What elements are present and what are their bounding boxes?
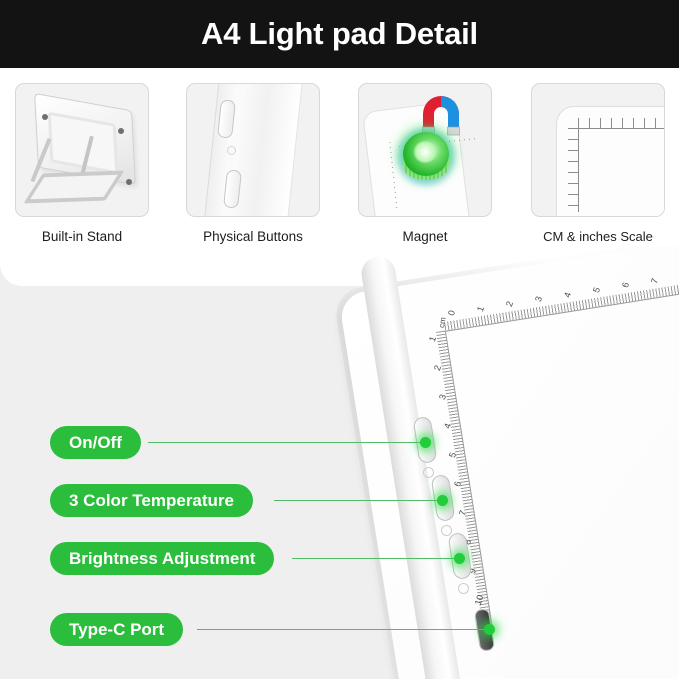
header-banner: A4 Light pad Detail bbox=[0, 0, 679, 68]
feature-panel-cm-inches-scale[interactable]: CM & inches Scale bbox=[531, 83, 665, 244]
magnet-thumbnail bbox=[358, 83, 492, 217]
callout-color-temperature[interactable]: 3 Color Temperature bbox=[50, 484, 253, 517]
anchor-dot-power bbox=[420, 437, 431, 448]
callout-power[interactable]: On/Off bbox=[50, 426, 141, 459]
ruler-line-vertical-icon bbox=[578, 128, 579, 212]
physical-buttons-thumbnail bbox=[186, 83, 320, 217]
ruler-ticks-horizontal-icon bbox=[578, 118, 665, 128]
feature-label: Built-in Stand bbox=[15, 229, 149, 244]
ruler-line-horizontal-icon bbox=[578, 128, 665, 129]
feature-label: Physical Buttons bbox=[186, 229, 320, 244]
callout-brightness[interactable]: Brightness Adjustment bbox=[50, 542, 274, 575]
anchor-dot-brightness bbox=[454, 553, 465, 564]
feature-panel-magnet[interactable]: Magnet bbox=[358, 83, 492, 244]
leader-line-power bbox=[148, 442, 426, 443]
feature-label: Magnet bbox=[358, 229, 492, 244]
scale-thumbnail bbox=[531, 83, 665, 217]
anchor-dot-type-c bbox=[484, 624, 495, 635]
callout-label: Brightness Adjustment bbox=[69, 549, 255, 569]
button-glyph-icon bbox=[227, 146, 236, 155]
ruler-unit-label: cm bbox=[437, 316, 448, 328]
callout-label: On/Off bbox=[69, 433, 122, 453]
callout-label: 3 Color Temperature bbox=[69, 491, 234, 511]
product-detail-image: A4 Light pad Detail Built-in Stand bbox=[0, 0, 679, 679]
leader-line-brightness bbox=[292, 558, 459, 559]
screw-dot-icon bbox=[42, 114, 48, 120]
anchor-dot-color-temperature bbox=[437, 495, 448, 506]
built-in-stand-thumbnail bbox=[15, 83, 149, 217]
ruler-ticks-vertical-icon bbox=[568, 128, 578, 212]
feature-label: CM & inches Scale bbox=[531, 229, 665, 244]
page-title: A4 Light pad Detail bbox=[201, 16, 478, 52]
feature-panel-built-in-stand[interactable]: Built-in Stand bbox=[15, 83, 149, 244]
screw-dot-icon bbox=[118, 128, 124, 134]
leader-line-color-temperature bbox=[274, 500, 442, 501]
feature-panel-physical-buttons[interactable]: Physical Buttons bbox=[186, 83, 320, 244]
magnet-disc-icon bbox=[403, 132, 449, 176]
callout-label: Type-C Port bbox=[69, 620, 164, 640]
callout-type-c[interactable]: Type-C Port bbox=[50, 613, 183, 646]
leader-line-type-c bbox=[197, 629, 489, 630]
screw-dot-icon bbox=[126, 179, 132, 185]
